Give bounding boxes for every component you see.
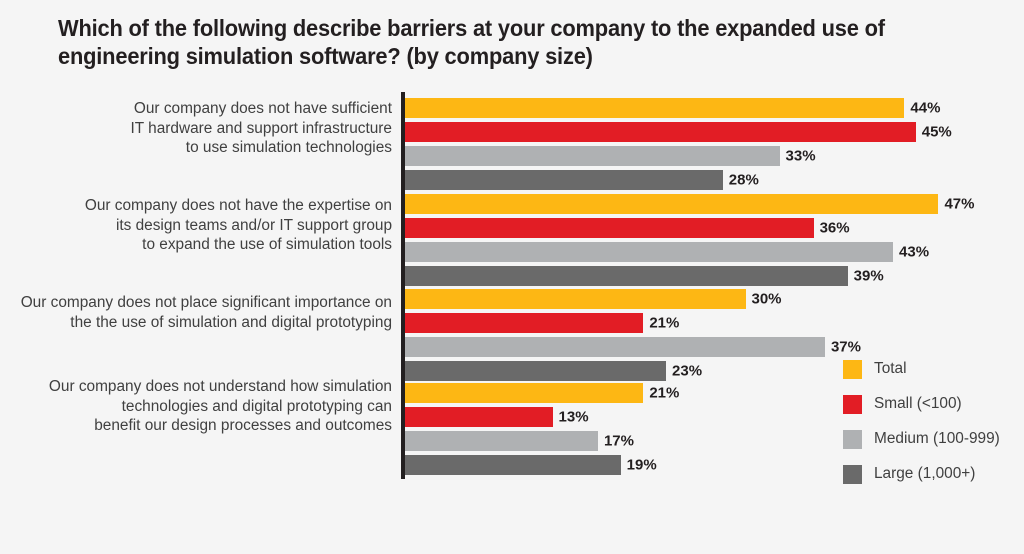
bar-value-label: 37% <box>825 339 861 356</box>
category-label: Our company does not understand how simu… <box>0 377 392 436</box>
category-label: Our company does not place significant i… <box>0 293 392 332</box>
bar-small-100[interactable] <box>405 218 814 238</box>
bar-value-label: 33% <box>780 148 816 165</box>
bar-medium-100-999[interactable] <box>405 242 893 262</box>
legend-swatch-icon <box>843 465 862 484</box>
category-label-line: benefit our design processes and outcome… <box>0 416 392 436</box>
legend-label: Medium (100-999) <box>874 430 1000 448</box>
bar-value-label: 47% <box>938 196 974 213</box>
bar-value-label: 45% <box>916 124 952 141</box>
bar-total[interactable] <box>405 98 904 118</box>
category-label-line: Our company does not understand how simu… <box>0 377 392 397</box>
bar-large-1-000[interactable] <box>405 361 666 381</box>
category-label-line: technologies and digital prototyping can <box>0 397 392 417</box>
category-label-line: its design teams and/or IT support group <box>0 216 392 236</box>
legend-label: Large (1,000+) <box>874 465 975 483</box>
bar-small-100[interactable] <box>405 122 916 142</box>
bar-value-label: 39% <box>848 268 884 285</box>
bar-total[interactable] <box>405 289 746 309</box>
legend-item-medium[interactable]: Medium (100-999) <box>843 427 1000 451</box>
bar-value-label: 28% <box>723 172 759 189</box>
legend-swatch-icon <box>843 395 862 414</box>
bar-medium-100-999[interactable] <box>405 431 598 451</box>
bar-total[interactable] <box>405 383 643 403</box>
category-label-line: Our company does not have the expertise … <box>0 196 392 216</box>
chart-legend: TotalSmall (<100)Medium (100-999)Large (… <box>843 357 1000 497</box>
bar-medium-100-999[interactable] <box>405 337 825 357</box>
bar-large-1-000[interactable] <box>405 455 621 475</box>
category-label-line: IT hardware and support infrastructure <box>0 119 392 139</box>
bar-small-100[interactable] <box>405 313 643 333</box>
legend-item-total[interactable]: Total <box>843 357 1000 381</box>
bar-value-label: 44% <box>904 100 940 117</box>
legend-label: Total <box>874 360 907 378</box>
bar-value-label: 21% <box>643 385 679 402</box>
legend-label: Small (<100) <box>874 395 962 413</box>
bar-value-label: 21% <box>643 315 679 332</box>
bar-large-1-000[interactable] <box>405 266 848 286</box>
category-label-line: to expand the use of simulation tools <box>0 235 392 255</box>
bar-value-label: 23% <box>666 363 702 380</box>
category-label: Our company does not have sufficientIT h… <box>0 99 392 158</box>
bar-large-1-000[interactable] <box>405 170 723 190</box>
bar-medium-100-999[interactable] <box>405 146 780 166</box>
bar-value-label: 19% <box>621 457 657 474</box>
bar-value-label: 43% <box>893 244 929 261</box>
bar-total[interactable] <box>405 194 938 214</box>
category-label-line: Our company does not place significant i… <box>0 293 392 313</box>
category-label: Our company does not have the expertise … <box>0 196 392 255</box>
legend-item-large[interactable]: Large (1,000+) <box>843 462 1000 486</box>
bar-value-label: 13% <box>553 409 589 426</box>
category-label-line: to use simulation technologies <box>0 138 392 158</box>
bar-small-100[interactable] <box>405 407 553 427</box>
category-label-line: Our company does not have sufficient <box>0 99 392 119</box>
legend-item-small[interactable]: Small (<100) <box>843 392 1000 416</box>
bar-value-label: 30% <box>746 291 782 308</box>
legend-swatch-icon <box>843 430 862 449</box>
bar-value-label: 36% <box>814 220 850 237</box>
category-label-line: the the use of simulation and digital pr… <box>0 313 392 333</box>
bar-value-label: 17% <box>598 433 634 450</box>
legend-swatch-icon <box>843 360 862 379</box>
